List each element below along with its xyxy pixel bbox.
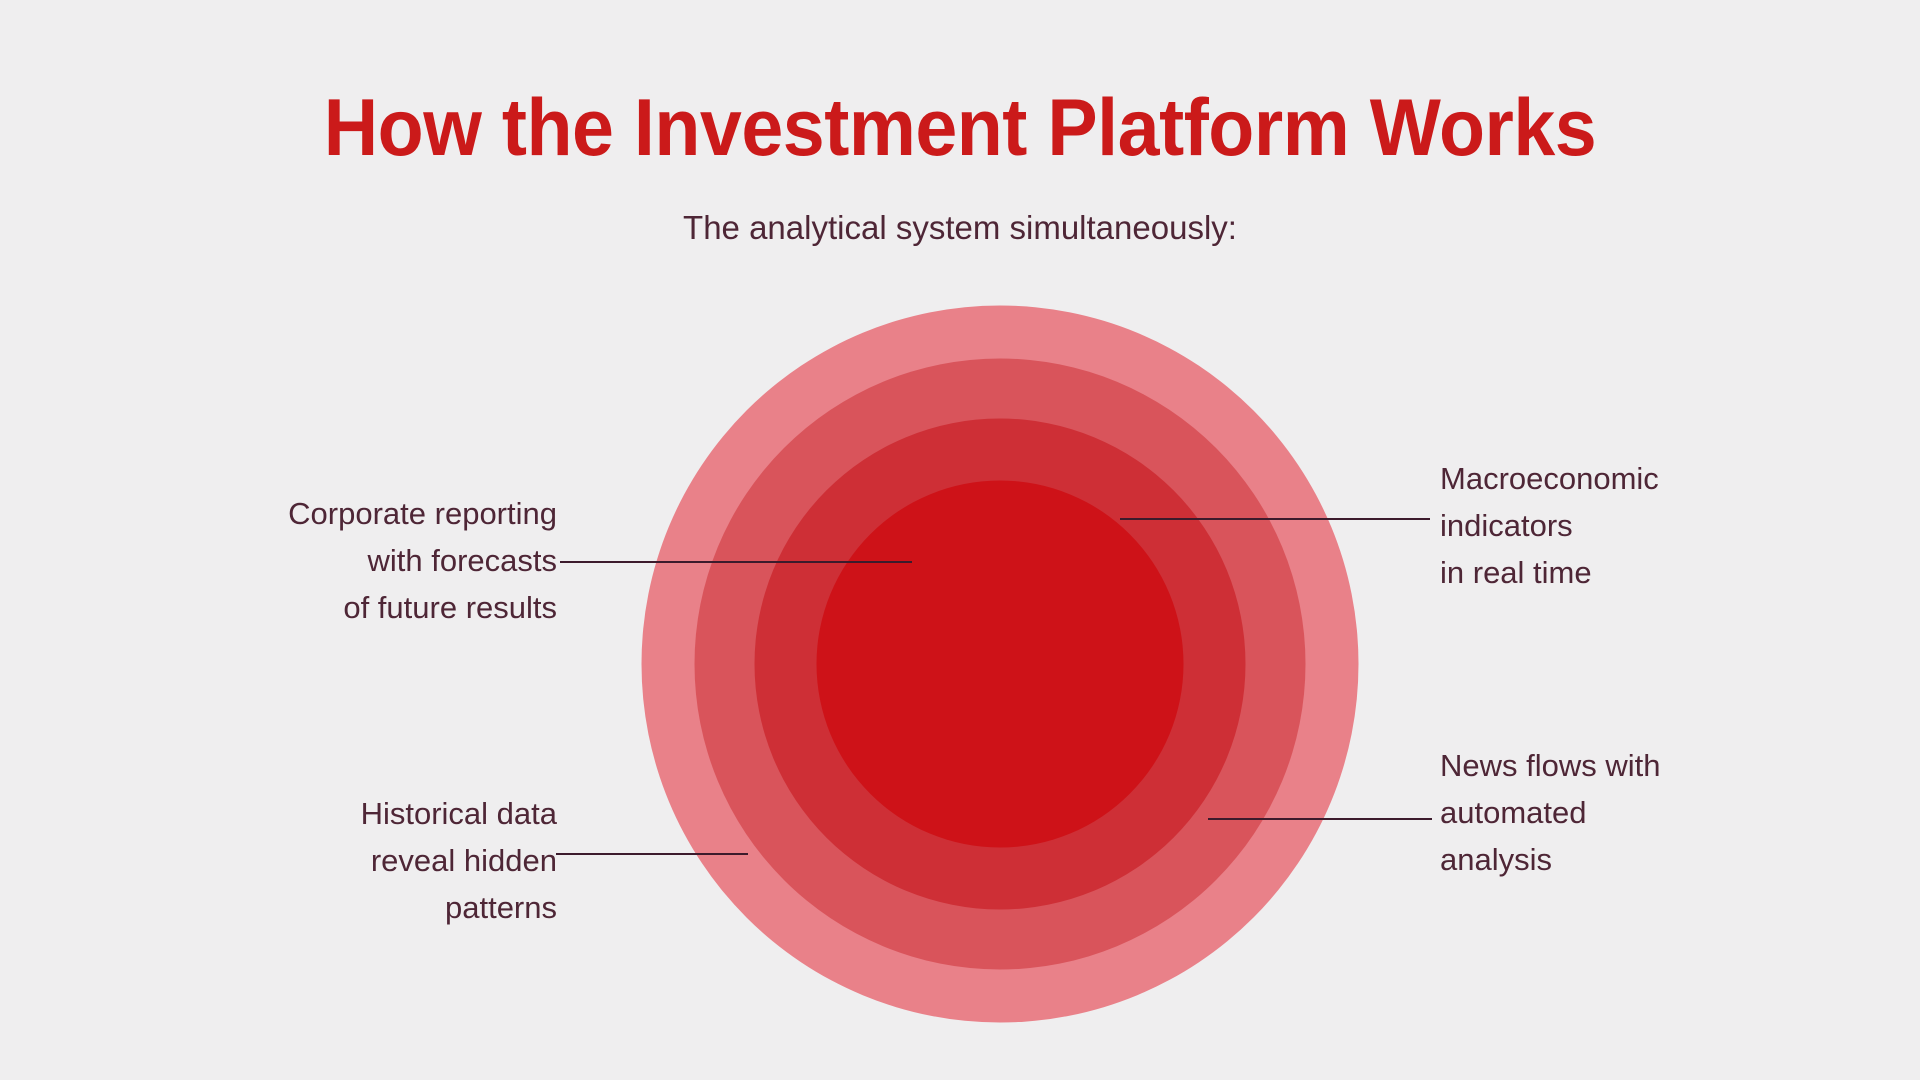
connector-line-corporate bbox=[560, 561, 912, 563]
connector-line-historical bbox=[556, 853, 748, 855]
connector-line-macroeconomic bbox=[1120, 518, 1430, 520]
circle-ring-core bbox=[817, 481, 1184, 848]
callout-macroeconomic-indicators: Macroeconomic indicators in real time bbox=[1440, 455, 1860, 596]
connector-line-news bbox=[1208, 818, 1432, 820]
callout-historical-data: Historical data reveal hidden patterns bbox=[37, 790, 557, 931]
callout-corporate-reporting: Corporate reporting with forecasts of fu… bbox=[37, 490, 557, 631]
callout-news-flows: News flows with automated analysis bbox=[1440, 742, 1860, 883]
infographic-canvas: How the Investment Platform Works The an… bbox=[0, 0, 1920, 1080]
page-title: How the Investment Platform Works bbox=[67, 84, 1853, 172]
page-subtitle: The analytical system simultaneously: bbox=[0, 208, 1920, 248]
